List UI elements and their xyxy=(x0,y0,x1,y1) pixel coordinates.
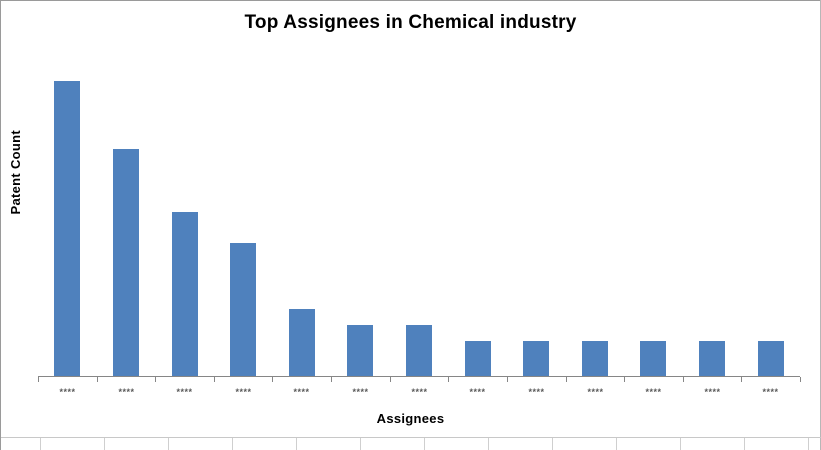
bar[interactable] xyxy=(582,341,608,376)
category-label: **** xyxy=(624,387,683,397)
plot-area xyxy=(38,55,800,376)
axis-tick xyxy=(155,377,156,382)
bar[interactable] xyxy=(54,81,80,376)
sheet-column-divider xyxy=(40,438,41,450)
bar[interactable] xyxy=(406,325,432,376)
sheet-row-divider xyxy=(1,437,821,438)
category-label: **** xyxy=(507,387,566,397)
sheet-column-divider xyxy=(168,438,169,450)
axis-tick xyxy=(800,377,801,382)
axis-tick xyxy=(390,377,391,382)
category-label: **** xyxy=(155,387,214,397)
bar[interactable] xyxy=(113,149,139,376)
category-label: **** xyxy=(683,387,742,397)
sheet-column-divider xyxy=(744,438,745,450)
axis-tick xyxy=(331,377,332,382)
x-axis-title: Assignees xyxy=(0,411,821,426)
axis-tick xyxy=(683,377,684,382)
category-label: **** xyxy=(97,387,156,397)
bar[interactable] xyxy=(758,341,784,376)
category-label: **** xyxy=(390,387,449,397)
category-label: **** xyxy=(214,387,273,397)
axis-tick xyxy=(38,377,39,382)
bar[interactable] xyxy=(230,243,256,376)
category-label: **** xyxy=(741,387,800,397)
bar[interactable] xyxy=(172,212,198,376)
bar[interactable] xyxy=(347,325,373,376)
axis-tick xyxy=(566,377,567,382)
axis-tick xyxy=(741,377,742,382)
sheet-column-divider xyxy=(104,438,105,450)
sheet-column-divider xyxy=(680,438,681,450)
bar[interactable] xyxy=(640,341,666,376)
bar[interactable] xyxy=(523,341,549,376)
y-axis-title: Patent Count xyxy=(8,130,30,214)
chart-title: Top Assignees in Chemical industry xyxy=(0,12,821,34)
chart-screenshot: Top Assignees in Chemical industry Paten… xyxy=(0,0,821,450)
category-label: **** xyxy=(566,387,625,397)
sheet-column-divider xyxy=(552,438,553,450)
sheet-column-divider xyxy=(360,438,361,450)
axis-tick xyxy=(214,377,215,382)
axis-tick xyxy=(507,377,508,382)
category-label: **** xyxy=(272,387,331,397)
sheet-column-divider xyxy=(488,438,489,450)
bar[interactable] xyxy=(699,341,725,376)
axis-tick xyxy=(448,377,449,382)
category-label: **** xyxy=(331,387,390,397)
axis-tick xyxy=(624,377,625,382)
sheet-column-divider xyxy=(232,438,233,450)
axis-tick xyxy=(97,377,98,382)
sheet-column-divider xyxy=(296,438,297,450)
category-label: **** xyxy=(448,387,507,397)
sheet-column-divider xyxy=(424,438,425,450)
axis-tick xyxy=(272,377,273,382)
category-label: **** xyxy=(38,387,97,397)
sheet-column-divider xyxy=(808,438,809,450)
category-axis-line xyxy=(38,376,800,377)
bar[interactable] xyxy=(289,309,315,376)
bar[interactable] xyxy=(465,341,491,376)
bar-chart[interactable]: Top Assignees in Chemical industry Paten… xyxy=(0,0,821,437)
sheet-column-divider xyxy=(616,438,617,450)
